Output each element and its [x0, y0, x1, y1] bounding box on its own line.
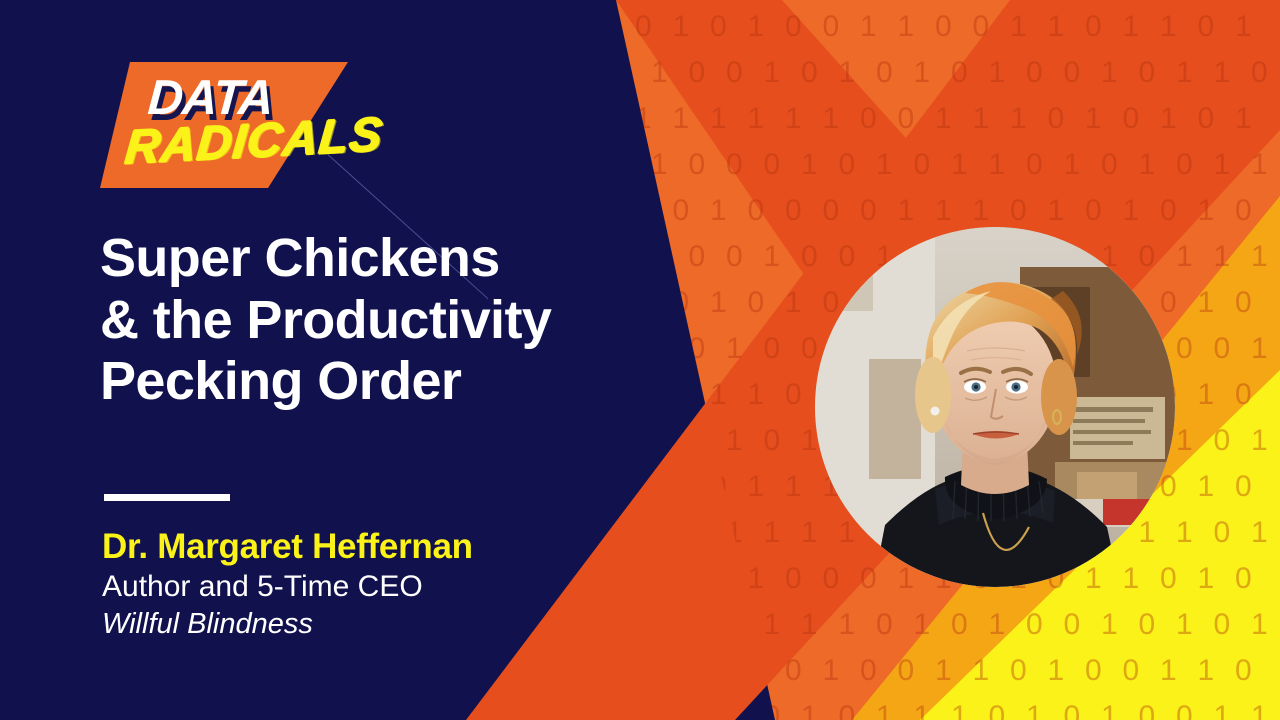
speaker-name: Dr. Margaret Heffernan	[102, 526, 722, 568]
binary-digit: 1	[598, 12, 615, 42]
binary-digit: 0	[560, 196, 577, 226]
speaker-portrait	[815, 227, 1175, 587]
episode-title-line-2: & the Productivity	[100, 290, 700, 352]
data-radicals-logo[interactable]: DATA RADICALS	[100, 62, 380, 198]
binary-digit: 0	[651, 426, 668, 456]
episode-title: Super Chickens & the Productivity Peckin…	[100, 228, 700, 413]
binary-digit: 0	[614, 58, 631, 88]
title-divider-rule	[104, 494, 230, 501]
speaker-book-title: Willful Blindness	[102, 606, 722, 644]
binary-digit: 0	[560, 12, 577, 42]
binary-digit: 1	[576, 150, 593, 180]
binary-digit: 0	[560, 104, 577, 134]
speaker-role: Author and 5-Time CEO	[102, 568, 722, 606]
binary-digit: 1	[598, 472, 615, 502]
speaker-block: Dr. Margaret Heffernan Author and 5-Time…	[102, 526, 722, 644]
binary-digit: 0	[560, 472, 577, 502]
binary-digit: 0	[598, 196, 615, 226]
binary-digit: 0	[614, 150, 631, 180]
episode-promo-card: 0101010011001101101001001010101001011000…	[0, 0, 1280, 720]
episode-title-line-1: Super Chickens	[100, 228, 700, 290]
episode-title-line-3: Pecking Order	[100, 351, 700, 413]
binary-digit: 0	[598, 104, 615, 134]
binary-digit: 0	[614, 426, 631, 456]
portrait-illustration	[815, 227, 1175, 587]
binary-digit: 0	[635, 196, 652, 226]
binary-digit: 1	[576, 426, 593, 456]
binary-digit: 0	[576, 58, 593, 88]
